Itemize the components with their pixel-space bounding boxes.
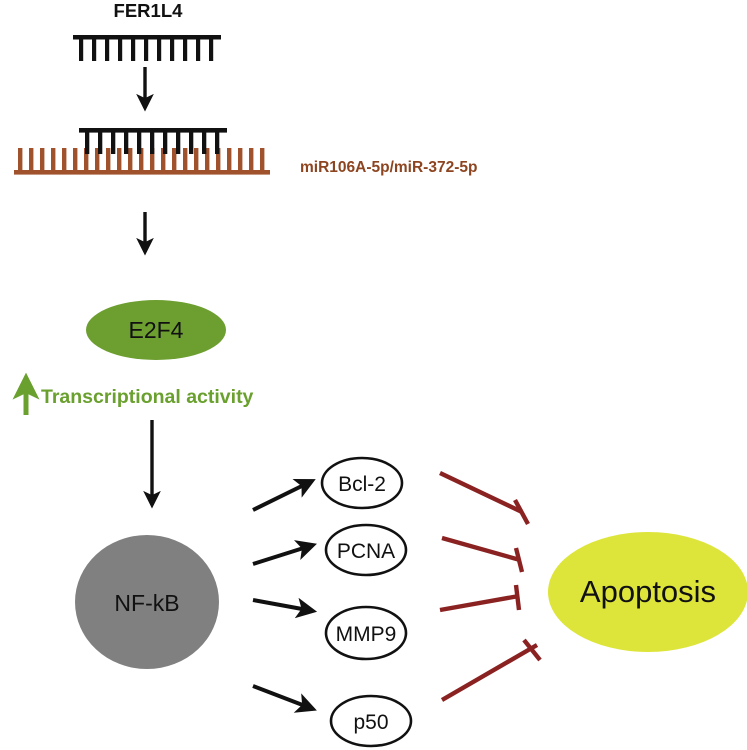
transcriptional-activity-annotation: Transcriptional activity xyxy=(26,378,254,415)
inhibition-p50-apoptosis xyxy=(442,640,540,700)
node-nfkb[interactable]: NF-kB xyxy=(75,535,219,669)
nfkb-target-arrows xyxy=(253,481,313,709)
target-node-pcna[interactable]: PCNA xyxy=(326,525,406,575)
fer1l4-title: FER1L4 xyxy=(114,0,184,21)
inhibition-pcna-apoptosis xyxy=(442,538,522,572)
mirna-strand xyxy=(14,148,270,175)
arrow-nfkb-to-bcl2 xyxy=(253,481,312,510)
mmp9-label: MMP9 xyxy=(336,623,397,646)
inhibition-mmp9-apoptosis xyxy=(440,585,519,610)
nfkb-label: NF-kB xyxy=(114,590,179,616)
arrow-nfkb-to-p50 xyxy=(253,686,313,709)
node-e2f4[interactable]: E2F4 xyxy=(86,300,226,360)
apoptosis-label: Apoptosis xyxy=(580,574,716,609)
pcna-label: PCNA xyxy=(337,540,395,563)
fer1l4-strand-bound xyxy=(79,128,227,154)
p50-label: p50 xyxy=(353,711,388,734)
target-node-p50[interactable]: p50 xyxy=(331,696,411,746)
bcl2-label: Bcl-2 xyxy=(338,473,386,496)
inhibition-edges xyxy=(440,473,540,700)
inhibition-bcl2-apoptosis xyxy=(440,473,528,524)
target-node-bcl2[interactable]: Bcl-2 xyxy=(322,458,402,508)
arrow-nfkb-to-pcna xyxy=(253,545,313,564)
target-node-mmp9[interactable]: MMP9 xyxy=(326,607,406,659)
pathway-diagram: FER1L4 xyxy=(0,0,747,750)
pathway-canvas: FER1L4 xyxy=(0,0,747,750)
fer1l4-strand xyxy=(73,35,221,61)
mirna-label: miR106A-5p/miR-372-5p xyxy=(300,159,477,176)
transcriptional-activity-label: Transcriptional activity xyxy=(41,386,254,408)
node-apoptosis[interactable]: Apoptosis xyxy=(548,532,747,652)
e2f4-label: E2F4 xyxy=(129,317,184,343)
arrow-nfkb-to-mmp9 xyxy=(253,600,313,611)
